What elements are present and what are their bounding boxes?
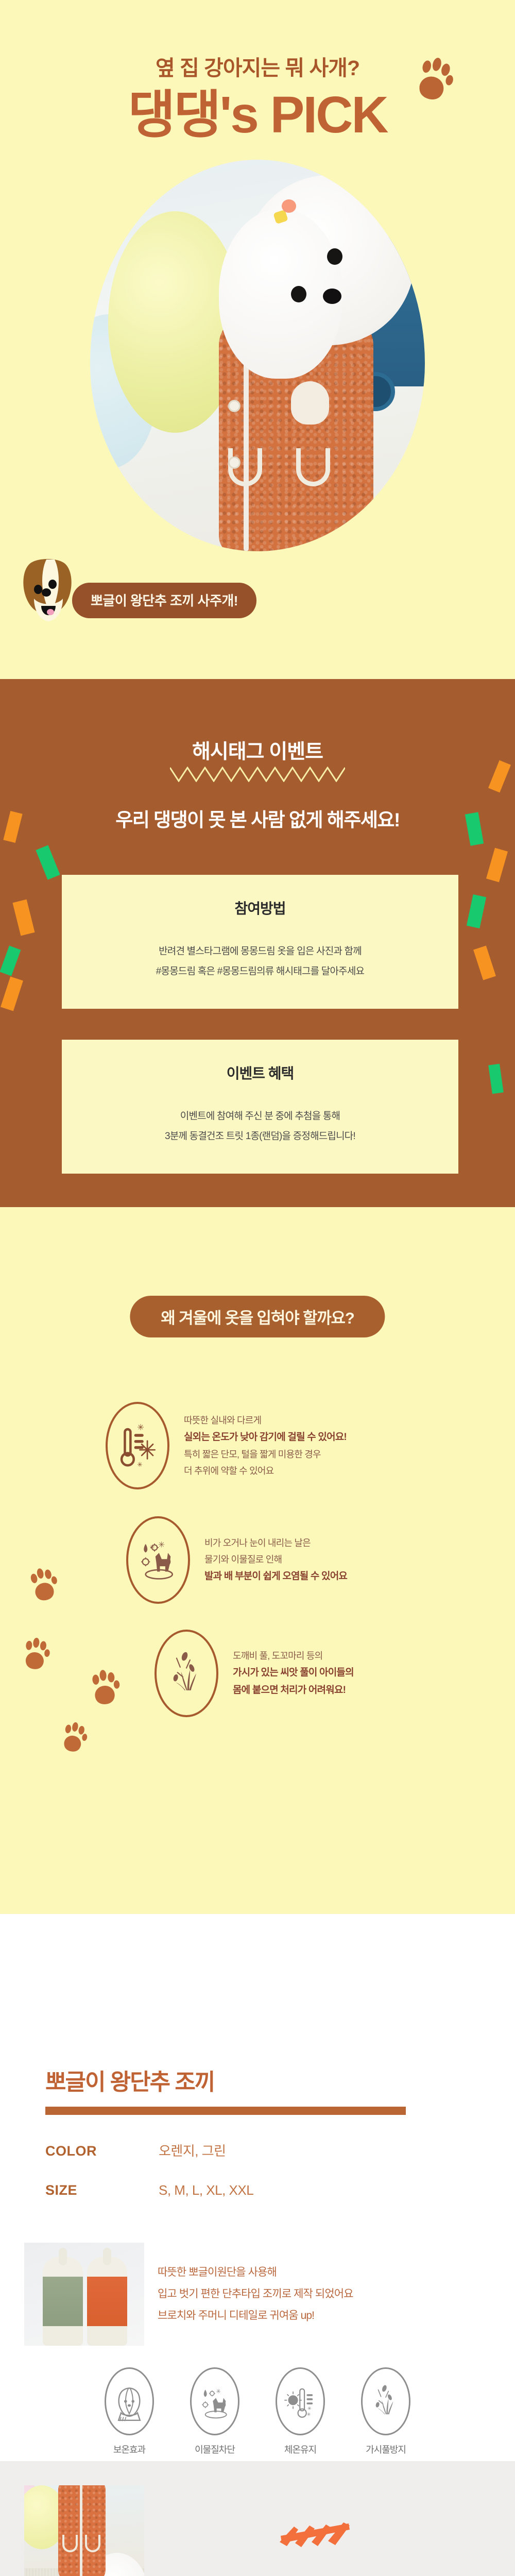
feature-label: 이물질차단 [181, 2443, 248, 2456]
feature-item-dirt-block: ✳ 이물질차단 [181, 2367, 248, 2456]
dog-with-scarf-icon [105, 2367, 154, 2435]
spec-row-color: COLOR 오렌지, 그린 [45, 2141, 253, 2160]
orange-color-swatch [277, 2520, 352, 2551]
mascot-speech-bubble: 뽀글이 왕단추 조끼 사주개! [72, 583, 256, 618]
event-title: 해시태그 이벤트 [0, 736, 515, 765]
vest-pocket-left [62, 2535, 78, 2552]
reason-line: 도깨비 풀, 도꼬마리 등의 [233, 1648, 354, 1664]
why-winter-section: 왜 겨울에 옷을 입혀야 할까요? [0, 1207, 515, 1914]
product-name: 뽀글이 왕단추 조끼 [45, 2063, 214, 2096]
paw-print-icon [27, 1565, 62, 1604]
thermometer-snowflake-icon: ✳ ✳ [106, 1402, 169, 1489]
svg-text:✳: ✳ [158, 1541, 165, 1550]
spec-row-size: SIZE S, M, L, XL, XXL [45, 2182, 253, 2198]
hero-product-photo [90, 160, 425, 551]
event-card-participation: 참여방법 반려견 별스타그램에 몽몽드림 옷을 입은 사진과 함께 #몽몽드림 … [62, 875, 458, 1009]
dog-eye-right [327, 248, 342, 265]
product-mannequin-photo [24, 2243, 144, 2346]
event-card-benefit: 이벤트 혜택 이벤트에 참여해 주신 분 중에 추첨을 통해 3분께 동결건조 … [62, 1040, 458, 1174]
paw-print-icon [59, 1720, 90, 1755]
event-card-line: 3분께 동결건조 트릿 1종(랜덤)을 증정해드립니다! [77, 1127, 443, 1147]
confetti-green-2 [0, 946, 21, 976]
color-label: 오렌지 [294, 2573, 335, 2576]
svg-text:✳: ✳ [137, 1461, 143, 1468]
mannequin-neck-left [59, 2248, 67, 2265]
confetti-green-4 [467, 894, 486, 928]
event-card-heading: 참여방법 [77, 897, 443, 918]
reason-line-bold: 발과 배 부분이 쉽게 오염될 수 있어요 [204, 1571, 347, 1582]
confetti-green-1 [36, 845, 60, 879]
product-description-block: 따뜻한 뽀글이원단을 사용해 입고 벗기 편한 단추타입 조끼로 제작 되었어요… [24, 2243, 353, 2346]
zigzag-divider-icon [170, 767, 345, 782]
mannequin-green-vest [43, 2257, 83, 2346]
feature-item-burr-block: 가시풀방지 [352, 2367, 419, 2456]
hashtag-event-section: 해시태그 이벤트 우리 댕댕이 못 본 사람 없게 해주세요! 참여방법 반려견… [0, 679, 515, 1207]
svg-text:✳: ✳ [307, 2406, 312, 2412]
confetti-orange-6 [488, 760, 511, 793]
product-description-line: 입고 벗기 편한 단추타입 조끼로 제작 되었어요 [158, 2283, 353, 2305]
shih-tzu-dog-face-icon [20, 545, 75, 628]
feature-item-warmth: 보온효과 [96, 2367, 163, 2456]
reason-line: 따뜻한 실내와 다르게 [184, 1412, 347, 1429]
vest-pocket-right [296, 448, 330, 486]
product-description-line: 브로치와 주머니 디테일로 귀여움 up! [158, 2305, 353, 2327]
reason-line: 비가 오거나 눈이 내리는 날은 [204, 1535, 347, 1551]
event-card-line: 이벤트에 참여해 주신 분 중에 추첨을 통해 [77, 1107, 443, 1127]
hero-section: 옆 집 강아지는 뭐 사개? 댕댕's PICK [0, 0, 515, 679]
confetti-orange-1 [1, 977, 23, 1011]
confetti-green-5 [488, 1064, 504, 1094]
orange-vest-dog-photo [24, 2485, 144, 2576]
vest-placket [80, 2485, 82, 2576]
dog-in-puddle-germs-icon: ✳ [190, 2367, 239, 2435]
reason-item-dirt: ✳ ✳ 비가 오거나 눈이 내리는 날은 물기와 이물질로 인해 발과 배 부분 [126, 1516, 347, 1604]
vest-brooch [291, 381, 329, 425]
sun-thermometer-icon: ✳ ✳ [276, 2367, 325, 2435]
event-card-line: #몽몽드림 혹은 #몽몽드림의류 해시태그를 달아주세요 [77, 962, 443, 982]
reason-item-burrs: 도깨비 풀, 도꼬마리 등의 가시가 있는 씨앗 풀이 아이들의 몸에 붙으면 … [154, 1630, 354, 1717]
reason-line: 특히 짧은 단모, 털을 짧게 미용한 경우 [184, 1446, 347, 1463]
feature-label: 보온효과 [96, 2443, 163, 2456]
reason-line-bold: 실외는 온도가 낮아 감기에 걸릴 수 있어요! [184, 1432, 347, 1443]
spec-key: COLOR [45, 2143, 159, 2159]
dog-nose [323, 289, 341, 304]
product-spec-section: 뽀글이 왕단추 조끼 COLOR 오렌지, 그린 SIZE S, M, L, X… [0, 1914, 515, 2461]
event-headline: 우리 댕댕이 못 본 사람 없게 해주세요! [0, 804, 515, 832]
feature-label: 체온유지 [267, 2443, 334, 2456]
spec-value: 오렌지, 그린 [159, 2141, 226, 2160]
reason-line-bold: 몸에 붙으면 처리가 어려워요! [233, 1685, 346, 1696]
spec-value: S, M, L, XL, XXL [159, 2182, 253, 2198]
vest-button-top [228, 400, 241, 412]
product-description-line: 따뜻한 뽀글이원단을 사용해 [158, 2262, 353, 2283]
paw-print-icon [21, 1636, 52, 1672]
reason-item-cold: ✳ ✳ 따뜻한 실내와 다르게 실외는 온도가 낮아 감기에 걸릴 수 있어요!… [106, 1402, 347, 1489]
confetti-orange-2 [12, 900, 35, 936]
vest-button-bottom [228, 456, 241, 469]
confetti-orange-4 [486, 848, 508, 883]
paw-print-icon [90, 1669, 122, 1707]
svg-text:✳: ✳ [216, 2388, 221, 2395]
feature-label: 가시풀방지 [352, 2443, 419, 2456]
why-winter-heading: 왜 겨울에 옷을 입혀야 할까요? [130, 1296, 385, 1337]
reason-line: 물기와 이물질로 인해 [204, 1551, 347, 1568]
color-showcase-orange: 오렌지 [0, 2461, 515, 2576]
svg-text:✳: ✳ [306, 2412, 311, 2418]
reason-line-bold: 가시가 있는 씨앗 풀이 아이들의 [233, 1667, 354, 1678]
confetti-orange-5 [473, 946, 496, 980]
event-card-heading: 이벤트 혜택 [77, 1062, 443, 1083]
svg-text:✳: ✳ [137, 1423, 144, 1432]
hair-clip-orange [282, 199, 296, 213]
feature-item-temperature: ✳ ✳ 체온유지 [267, 2367, 334, 2456]
title-underline [45, 2107, 406, 2115]
event-card-line: 반려견 별스타그램에 몽몽드림 옷을 입은 사진과 함께 [77, 942, 443, 962]
mannequin-neck-right [103, 2248, 111, 2265]
vest-pocket-right [85, 2535, 100, 2552]
spec-table: COLOR 오렌지, 그린 SIZE S, M, L, XL, XXL [45, 2141, 253, 2221]
dog-eye-left [291, 286, 306, 302]
burr-grass-seeds-icon [154, 1630, 218, 1717]
reason-line: 더 추위에 약할 수 있어요 [184, 1463, 347, 1479]
feature-badges: 보온효과 ✳ 이물질차단 [0, 2367, 515, 2456]
spec-key: SIZE [45, 2182, 159, 2198]
burr-grass-seeds-icon [361, 2367, 410, 2435]
mannequin-orange-vest [87, 2257, 127, 2346]
dog-in-puddle-germs-icon: ✳ ✳ [126, 1516, 190, 1604]
